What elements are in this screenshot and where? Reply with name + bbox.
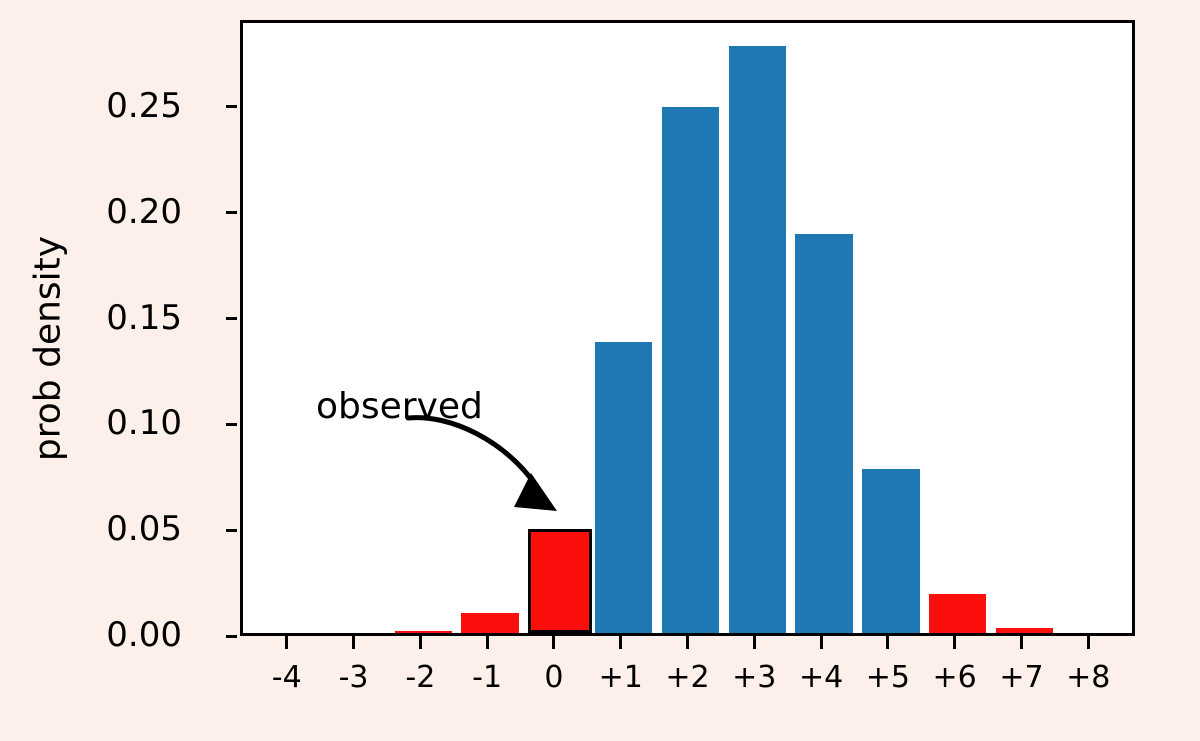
x-tick-label: +1 bbox=[599, 660, 643, 695]
x-tick-label: -3 bbox=[339, 660, 369, 695]
bar-+7 bbox=[996, 628, 1053, 633]
bar--2 bbox=[395, 631, 452, 633]
y-tick-label: 0.00 bbox=[106, 618, 182, 652]
bar-+2 bbox=[662, 107, 719, 633]
y-tick-label: 0.25 bbox=[106, 89, 182, 123]
bar--1 bbox=[461, 613, 518, 633]
y-tick-mark bbox=[226, 529, 237, 532]
bar-+6 bbox=[929, 594, 986, 633]
observed-annotation-label: observed bbox=[316, 386, 483, 427]
x-tick-label: +7 bbox=[999, 660, 1043, 695]
x-tick-label: -1 bbox=[472, 660, 502, 695]
y-tick-label: 0.05 bbox=[106, 512, 182, 546]
y-tick-label: 0.10 bbox=[106, 406, 182, 440]
x-tick-mark bbox=[1020, 636, 1023, 649]
y-tick-mark bbox=[226, 105, 237, 108]
x-tick-mark bbox=[886, 636, 889, 649]
x-tick-label: +5 bbox=[866, 660, 910, 695]
figure-canvas: prob density 0.000.050.100.150.200.25 -4… bbox=[0, 0, 1200, 741]
x-tick-mark bbox=[953, 636, 956, 649]
bar-observed bbox=[528, 529, 591, 633]
y-axis-label: prob density bbox=[28, 189, 69, 509]
x-tick-mark bbox=[619, 636, 622, 649]
y-tick-mark bbox=[226, 317, 237, 320]
bar-+5 bbox=[862, 469, 919, 633]
x-tick-mark bbox=[820, 636, 823, 649]
y-tick-mark bbox=[226, 423, 237, 426]
x-tick-mark bbox=[486, 636, 489, 649]
x-tick-label: +3 bbox=[732, 660, 776, 695]
x-tick-label: +4 bbox=[799, 660, 843, 695]
bar-+4 bbox=[795, 234, 852, 633]
x-tick-mark bbox=[1087, 636, 1090, 649]
x-tick-label: -4 bbox=[272, 660, 302, 695]
x-tick-label: -2 bbox=[405, 660, 435, 695]
x-tick-label: +8 bbox=[1066, 660, 1110, 695]
bars-layer bbox=[243, 23, 1132, 633]
x-tick-mark bbox=[285, 636, 288, 649]
y-tick-label: 0.20 bbox=[106, 195, 182, 229]
x-tick-mark bbox=[552, 636, 555, 649]
x-tick-label: +6 bbox=[933, 660, 977, 695]
x-tick-mark bbox=[686, 636, 689, 649]
bar-+1 bbox=[595, 342, 652, 633]
x-tick-label: +2 bbox=[665, 660, 709, 695]
x-tick-mark bbox=[419, 636, 422, 649]
x-tick-label: 0 bbox=[544, 660, 563, 695]
y-tick-label: 0.15 bbox=[106, 301, 182, 335]
y-tick-mark bbox=[226, 211, 237, 214]
bar-+3 bbox=[729, 46, 786, 633]
y-tick-mark bbox=[226, 635, 237, 638]
plot-area bbox=[240, 20, 1135, 636]
x-tick-mark bbox=[352, 636, 355, 649]
x-tick-mark bbox=[753, 636, 756, 649]
